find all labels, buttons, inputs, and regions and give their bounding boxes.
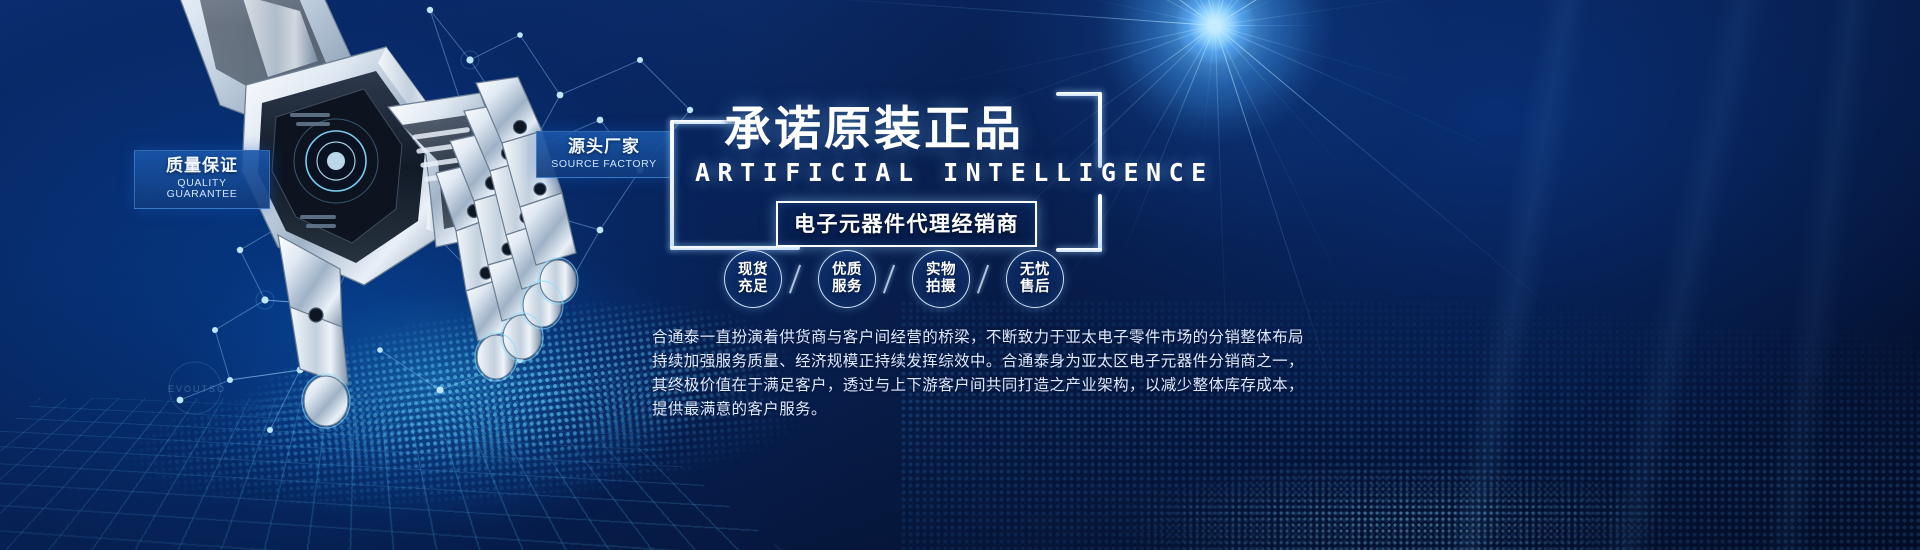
feature-badge-row: 现货 充足 优质 服务 实物 拍摄 无忧 售后 [652,250,1072,316]
badge-quality-en: QUALITY GUARANTEE [147,178,257,201]
hero-banner: EVOUTSO EVOUTSO [0,0,1920,550]
bracket-right-rail-bottom [1098,194,1102,252]
lens-flare-core [1175,0,1255,65]
feature-badge-photo: 实物 拍摄 [912,250,970,308]
badge-quality-guarantee: 质量保证 QUALITY GUARANTEE [134,150,270,209]
badge-separator-2 [883,265,895,294]
feature-badge-photo-line2: 拍摄 [926,279,956,296]
badge-source-cn: 源头厂家 [549,138,659,157]
subtitle-english: ARTIFICIAL INTELLIGENCE [695,158,1214,187]
feature-badge-photo-line1: 实物 [926,262,956,279]
feature-badge-service-line1: 优质 [832,262,862,279]
feature-badge-stock-line1: 现货 [738,262,768,279]
feature-badge-stock-line2: 充足 [738,279,768,296]
badge-separator-3 [977,265,989,294]
badge-source-en: SOURCE FACTORY [549,159,659,171]
subtitle-box: 电子元器件代理经销商 [776,201,1037,247]
description-line-2: 持续加强服务质量、经济规模正持续发挥综效中。合通泰身为亚太区电子元器件分销商之一… [652,349,1312,373]
feature-badge-aftersales-line2: 售后 [1020,279,1050,296]
description-line-1: 合通泰一直扮演着供货商与客户间经营的桥梁，不断致力于亚太电子零件市场的分销整体布… [652,325,1312,349]
badge-separator-1 [789,265,801,294]
feature-badge-service-line2: 服务 [832,279,862,296]
banner-content: 承诺原装正品 ARTIFICIAL INTELLIGENCE 电子元器件代理经销… [652,70,1312,490]
feature-badge-stock: 现货 充足 [724,250,782,308]
feature-badge-aftersales: 无忧 售后 [1006,250,1064,308]
page-title: 承诺原装正品 [724,90,1024,159]
feature-badge-aftersales-line1: 无忧 [1020,262,1050,279]
badge-quality-cn: 质量保证 [147,157,257,176]
bracket-top-right [1056,92,1102,96]
robotic-hand-illustration [150,0,610,455]
robotic-hand-icon [150,0,610,455]
feature-badge-service: 优质 服务 [818,250,876,308]
description-line-3: 其终极价值在于满足客户，透过与上下游客户间共同打造之产业架构，以减少整体库存成本… [652,373,1312,397]
bracket-left-rail [670,120,674,250]
description-paragraph: 合通泰一直扮演着供货商与客户间经营的桥梁，不断致力于亚太电子零件市场的分销整体布… [652,325,1312,421]
subtitle-box-label: 电子元器件代理经销商 [794,212,1019,236]
description-line-4: 提供最满意的客户服务。 [652,397,1312,421]
bracket-right-rail-top [1098,92,1102,168]
